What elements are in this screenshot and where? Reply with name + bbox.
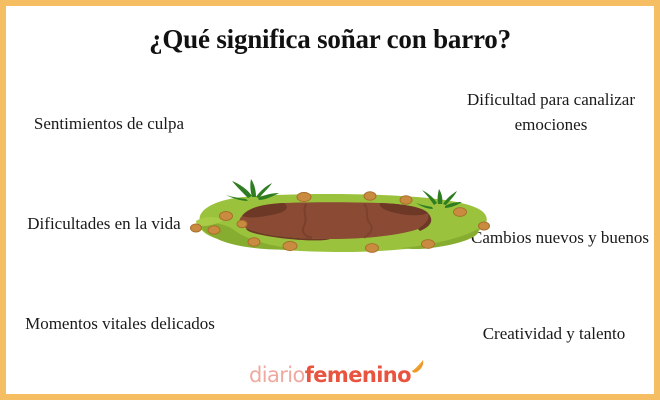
border-bottom [0,394,660,400]
border-left [0,0,6,400]
label-emotion-channeling: Dificultad para canalizar emociones [456,88,646,137]
page-title: ¿Qué significa soñar con barro? [0,24,660,55]
brand-logo-text: diariofemenino [249,365,411,386]
label-delicate-moments: Momentos vitales delicados [22,312,218,337]
leaf-flourish-icon [410,358,426,374]
brand-logo-diario: diario [249,363,305,387]
infographic-canvas: ¿Qué significa soñar con barro? Sentimie… [0,0,660,400]
label-creativity: Creatividad y talento [464,322,644,347]
border-top [0,0,660,6]
label-guilt: Sentimientos de culpa [14,112,204,137]
brand-logo-femenino: femenino [305,363,411,387]
border-right [654,0,660,400]
brand-logo: diariofemenino [0,365,660,386]
mud-puddle-illustration [166,178,514,274]
